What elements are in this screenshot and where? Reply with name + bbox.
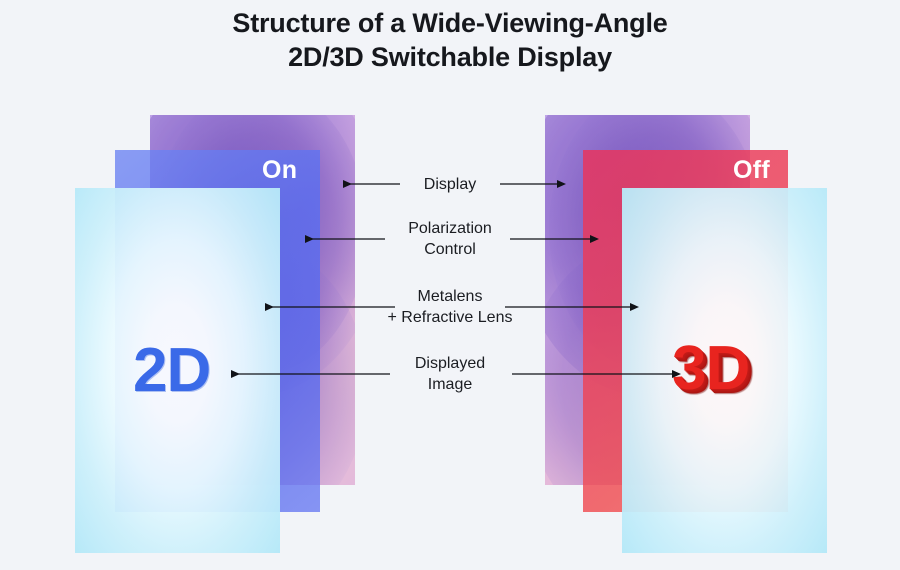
callout-label-polarization: Polarization Control [350, 218, 550, 260]
callout-label-displayed-image: Displayed Image [350, 353, 550, 395]
callout-label-display: Display [350, 174, 550, 195]
callout-arrows [0, 0, 900, 570]
callout-label-metalens: Metalens + Refractive Lens [340, 286, 560, 328]
diagram-canvas: Structure of a Wide-Viewing-Angle 2D/3D … [0, 0, 900, 570]
